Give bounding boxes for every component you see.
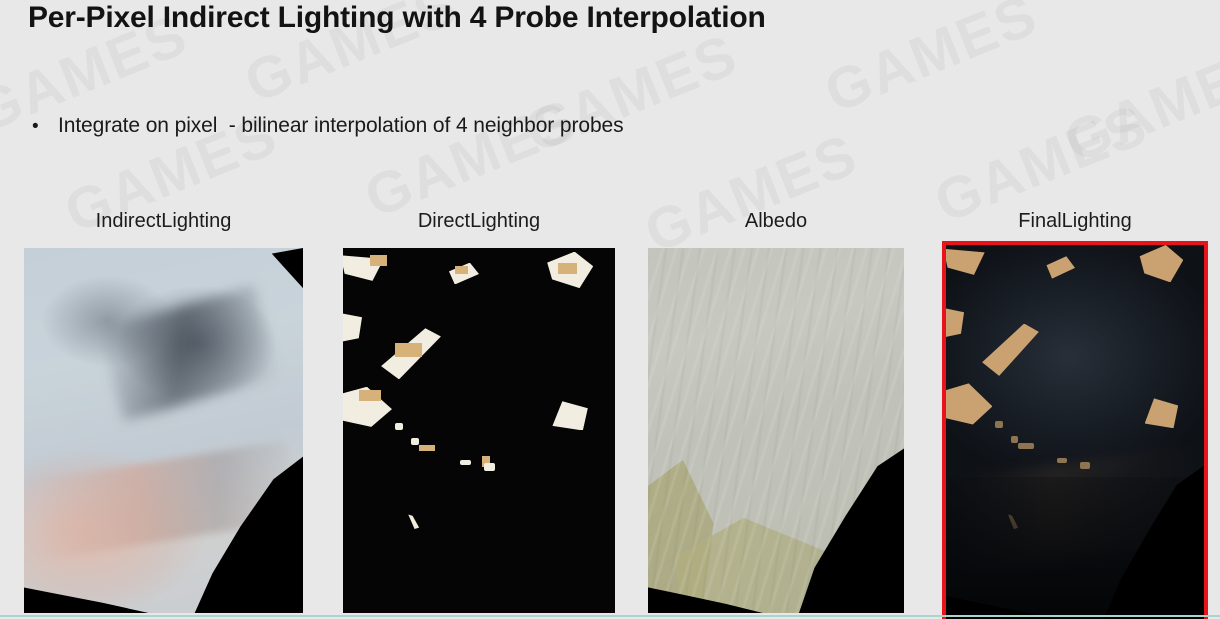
thumbnail-direct-lighting[interactable] <box>343 248 615 613</box>
specular-highlight-warm <box>395 343 422 358</box>
render-albedo <box>648 248 904 613</box>
panel-direct-lighting[interactable]: DirectLighting <box>343 210 615 613</box>
specular-highlight-warm <box>370 255 386 266</box>
panel-final-lighting[interactable]: FinalLighting <box>946 210 1204 613</box>
specular-highlight-warm <box>455 266 469 273</box>
lit-patch-dim <box>995 421 1003 428</box>
panel-label: IndirectLighting <box>24 210 303 233</box>
specular-highlight-warm <box>558 263 577 274</box>
panel-label: DirectLighting <box>343 210 615 233</box>
thumbnail-indirect-lighting[interactable] <box>24 248 303 613</box>
panel-label: FinalLighting <box>946 210 1204 233</box>
panel-albedo[interactable]: Albedo <box>648 210 904 613</box>
lit-patch-dim <box>1057 458 1067 463</box>
specular-highlight <box>411 438 419 445</box>
page-title: Per-Pixel Indirect Lighting with 4 Probe… <box>28 1 766 35</box>
lit-patch-dim <box>1018 443 1033 449</box>
lit-patch-dim <box>1080 462 1090 469</box>
unlit-background-layer <box>343 248 615 613</box>
bottom-rule <box>0 615 1220 617</box>
slide-canvas: GAMES GAMES GAMES GAMES GAMES GAMES GAME… <box>0 0 1220 619</box>
bullet-item: • Integrate on pixel - bilinear interpol… <box>32 114 624 138</box>
specular-highlight <box>460 460 471 465</box>
render-final-lighting <box>946 245 1204 619</box>
lit-patch-dim <box>1011 436 1019 443</box>
specular-highlight <box>484 463 495 470</box>
thumbnail-albedo[interactable] <box>648 248 904 613</box>
render-indirect-lighting <box>24 248 303 613</box>
specular-highlight <box>395 423 403 430</box>
bullet-text: Integrate on pixel - bilinear interpolat… <box>58 114 624 138</box>
specular-highlight-warm <box>419 445 435 451</box>
render-direct-lighting <box>343 248 615 613</box>
specular-highlight-warm <box>359 390 381 401</box>
thumbnail-final-lighting[interactable] <box>942 241 1208 619</box>
bullet-marker-icon: • <box>32 117 58 136</box>
panel-indirect-lighting[interactable]: IndirectLighting <box>24 210 303 613</box>
image-panel-group: IndirectLighting DirectLighting <box>0 0 1220 619</box>
panel-label: Albedo <box>648 210 904 233</box>
